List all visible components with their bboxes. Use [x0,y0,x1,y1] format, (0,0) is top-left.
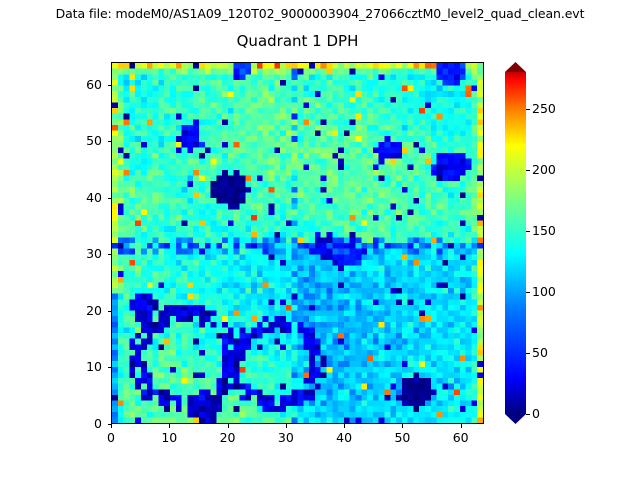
y-tick-mark [108,367,112,368]
y-tick-mark [108,141,112,142]
x-tick-mark [344,424,345,428]
y-tick-mark [108,254,112,255]
colorbar-tick-label: 100 [532,284,556,299]
x-tick-label: 60 [441,430,481,445]
x-tick-label: 30 [266,430,306,445]
y-tick-label: 40 [62,190,102,205]
y-tick-mark [108,198,112,199]
colorbar-tick-mark [526,231,530,232]
y-tick-label: 50 [62,133,102,148]
y-tick-label: 20 [62,303,102,318]
x-tick-label: 20 [208,430,248,445]
y-tick-mark [108,85,112,86]
dph-heatmap-image[interactable] [112,63,483,423]
data-file-label: Data file: modeM0/AS1A09_120T02_90000039… [0,6,640,21]
x-tick-mark [228,424,229,428]
colorbar-over-arrow [505,62,526,72]
dph-heatmap-axes[interactable] [111,62,484,424]
y-tick-label: 10 [62,359,102,374]
x-tick-label: 50 [382,430,422,445]
x-tick-mark [169,424,170,428]
x-tick-label: 10 [149,430,189,445]
colorbar-tick-mark [526,414,530,415]
x-tick-mark [286,424,287,428]
colorbar-tick-label: 50 [532,345,548,360]
x-tick-label: 40 [324,430,364,445]
colorbar-tick-mark [526,109,530,110]
x-tick-mark [461,424,462,428]
colorbar-tick-mark [526,353,530,354]
y-tick-mark [108,424,112,425]
colorbar-under-arrow [505,414,526,424]
x-tick-mark [402,424,403,428]
y-tick-label: 60 [62,77,102,92]
x-tick-mark [111,424,112,428]
y-tick-mark [108,311,112,312]
colorbar-tick-label: 250 [532,101,556,116]
colorbar-tick-label: 200 [532,162,556,177]
x-tick-label: 0 [91,430,131,445]
colorbar-tick-mark [526,170,530,171]
axes-title: Quadrant 1 DPH [111,32,484,50]
y-tick-label: 30 [62,246,102,261]
colorbar-tick-label: 150 [532,223,556,238]
colorbar-tick-label: 0 [532,406,540,421]
y-tick-label: 0 [62,416,102,431]
colorbar[interactable] [505,62,526,424]
matplotlib-figure: Data file: modeM0/AS1A09_120T02_90000039… [0,0,640,480]
colorbar-gradient [505,72,526,414]
colorbar-tick-mark [526,292,530,293]
